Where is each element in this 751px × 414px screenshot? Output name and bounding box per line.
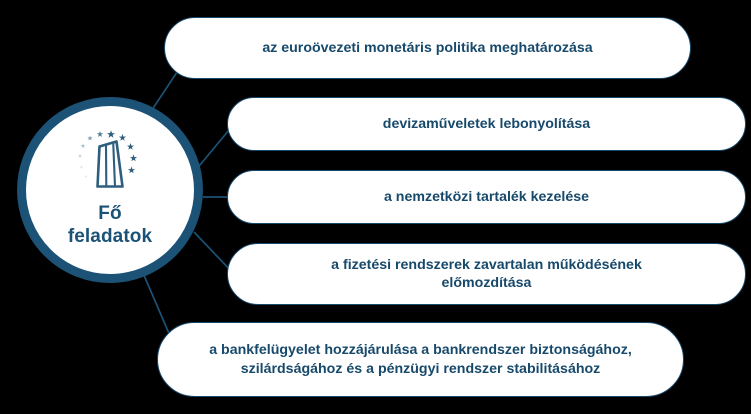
task-text-line: szilárdságához és a pénzügyi rendszer st… [209, 360, 632, 378]
task-text-line: előmozdítása [331, 274, 642, 292]
task-text: a nemzetközi tartalék kezelése [384, 188, 589, 206]
task-text-line: a nemzetközi tartalék kezelése [384, 188, 589, 206]
task-box-banking-supervision[interactable]: a bankfelügyelet hozzájárulása a bankren… [157, 322, 684, 397]
task-text: a bankfelügyelet hozzájárulása a bankren… [209, 341, 632, 378]
task-text: az euroövezeti monetáris politika meghat… [262, 39, 592, 57]
ecb-building-stars-logo [75, 128, 145, 196]
task-text-line: a bankfelügyelet hozzájárulása a bankren… [209, 341, 632, 359]
task-text-line: devizaműveletek lebonyolítása [383, 115, 590, 133]
task-text-line: a fizetési rendszerek zavartalan működés… [331, 256, 642, 274]
task-text: a fizetési rendszerek zavartalan működés… [331, 256, 642, 293]
hub-label-line1: Fő [98, 203, 121, 224]
task-box-monetary-policy[interactable]: az euroövezeti monetáris politika meghat… [164, 17, 691, 79]
task-text-line: az euroövezeti monetáris politika meghat… [262, 39, 592, 57]
hub-circle: Fő feladatok [17, 97, 203, 283]
task-box-payment-systems[interactable]: a fizetési rendszerek zavartalan működés… [227, 243, 746, 305]
hub-label-line2: feladatok [68, 225, 152, 248]
task-box-foreign-exchange-operations[interactable]: devizaműveletek lebonyolítása [227, 97, 746, 151]
task-box-reserve-management[interactable]: a nemzetközi tartalék kezelése [227, 170, 746, 224]
hub-label: Fő feladatok [68, 202, 152, 248]
task-text: devizaműveletek lebonyolítása [383, 115, 590, 133]
diagram-canvas: Fő feladatok az euroövezeti monetáris po… [0, 0, 751, 414]
